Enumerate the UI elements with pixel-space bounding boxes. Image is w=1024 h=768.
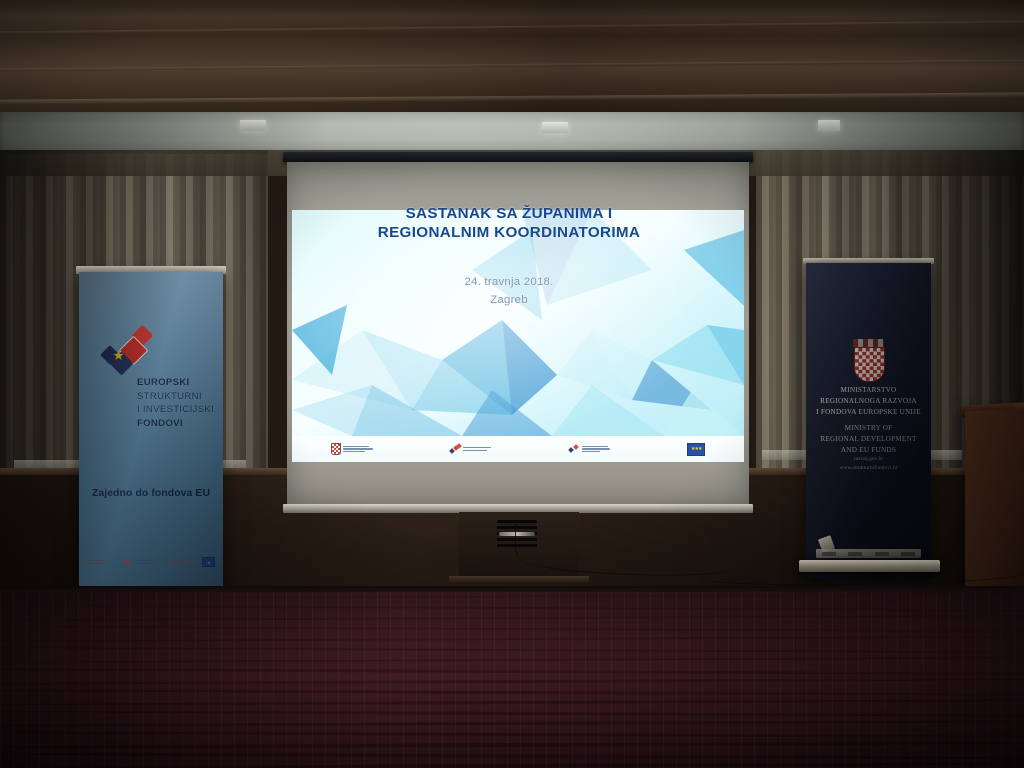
ministry-hr-line-1: MINISTARSTVO: [841, 386, 897, 394]
coat-of-arms-crown: [853, 339, 884, 347]
partner-logo: [901, 552, 915, 556]
carpet-wave: [0, 636, 1024, 643]
right-banner-logo-strip: [816, 549, 921, 558]
left-banner-logo-strip: ★: [87, 556, 215, 568]
slide-logo-strip: ★★★: [292, 436, 744, 462]
logo-text-lines: [582, 446, 610, 451]
right-banner-urls: razvoj.gov.hr www.strukturnifondovi.hr: [806, 455, 931, 473]
url-razvoj: razvoj.gov.hr: [854, 456, 883, 462]
left-banner-tagline: Zajedno do fondova EU: [79, 488, 223, 499]
downlight-icon: [542, 122, 568, 133]
carpet-wave: [0, 625, 1024, 632]
ceiling-molding: [0, 21, 1024, 35]
esi-funds-logo: [450, 444, 491, 455]
right-banner-text: MINISTARSTVO REGIONALNOGA RAZVOJA I FOND…: [806, 385, 931, 456]
carpet-wave: [0, 657, 1024, 664]
partner-logo: [123, 557, 154, 568]
ministry-hr-line-3: I FONDOVA EUROPSKE UNIJE: [816, 408, 921, 416]
carpet-wave: [0, 720, 1024, 728]
carpet-wave: [0, 730, 1024, 738]
slide-title-line-1: SASTANAK SA ŽUPANIMA I: [283, 204, 735, 223]
url-strukturnifondovi: www.strukturnifondovi.hr: [839, 465, 897, 471]
carpet-wave: [0, 615, 1024, 621]
carpet-wave: [0, 709, 1024, 717]
partner-logo: [848, 552, 862, 556]
slide-date: 24. travnja 2018.: [283, 274, 735, 292]
carpet-wave: [0, 604, 1024, 610]
ministry-of-regional-development-logo: [331, 443, 373, 455]
carpet-wave: [0, 688, 1024, 695]
left-banner-heading: EUROPSKI STRUKTURNI I INVESTICIJSKI FOND…: [137, 376, 221, 430]
heading-line-4: FONDOVI: [137, 418, 183, 429]
downlight-icon: [240, 120, 266, 131]
carpet-floor: [0, 592, 1024, 768]
carpet-wave: [0, 667, 1024, 674]
ceiling-molding: [0, 92, 1024, 104]
operational-programme-logo: [569, 444, 610, 455]
heading-line-3: I INVESTICIJSKI: [137, 404, 214, 415]
ministry-hr-line-2: REGIONALNOGA RAZVOJA: [820, 397, 917, 405]
carpet-wave: [0, 646, 1024, 653]
carpet-wave: [0, 699, 1024, 707]
conference-room-photo: SASTANAK SA ŽUPANIMA I REGIONALNIM KOORD…: [0, 0, 1024, 768]
croatian-coat-of-arms-icon: [851, 339, 886, 381]
partner-logo: [822, 552, 836, 556]
slide-title-line-2: REGIONALNIM KOORDINATORIMA: [283, 223, 735, 242]
ministry-en-line-3: AND EU FUNDS: [806, 445, 931, 456]
slide-title: SASTANAK SA ŽUPANIMA I REGIONALNIM KOORD…: [283, 204, 735, 243]
partner-logo: [170, 560, 186, 563]
ceiling: [0, 0, 1024, 118]
coat-of-arms-shield: [854, 347, 885, 382]
heading-line-2: STRUKTURNI: [137, 391, 202, 402]
carpet-wave: [0, 678, 1024, 685]
slide-place: Zagreb: [283, 292, 735, 310]
carpet-wave: [0, 751, 1024, 759]
eu-flag-icon: ★★★: [687, 443, 705, 456]
projected-slide: [292, 210, 744, 436]
carpet-wave: [0, 741, 1024, 749]
european-union-flag-logo: ★★★: [687, 443, 705, 456]
op-squares-icon: [569, 444, 580, 455]
eu-flag-icon: ★: [202, 557, 215, 567]
downlight-icon: [818, 120, 840, 131]
projection-screen: SASTANAK SA ŽUPANIMA I REGIONALNIM KOORD…: [283, 152, 753, 522]
ministry-en-line-2: REGIONAL DEVELOPMENT: [806, 434, 931, 445]
carpet-wave: [0, 594, 1024, 600]
carpet-wave: [0, 762, 1024, 768]
esi-funds-logo-icon: [101, 328, 167, 380]
esif-squares-icon: [450, 444, 461, 455]
ministry-en-line-1: MINISTRY OF: [806, 423, 931, 434]
ceiling-molding: [0, 60, 1024, 72]
ministry-rollup-banner: MINISTARSTVO REGIONALNOGA RAZVOJA I FOND…: [806, 263, 931, 578]
esi-funds-rollup-banner: EUROPSKI STRUKTURNI I INVESTICIJSKI FOND…: [79, 272, 223, 602]
logo-text-lines: [343, 446, 373, 451]
partner-logo: [875, 552, 889, 556]
screen-foot: [449, 576, 589, 583]
croatian-shield-icon: [331, 443, 341, 455]
logo-text-lines: [463, 447, 491, 450]
screen-top-bar: [283, 152, 753, 162]
partner-logo: [87, 560, 107, 563]
heading-line-1: EUROPSKI: [137, 377, 190, 388]
slide-subtitle: 24. travnja 2018. Zagreb: [283, 274, 735, 309]
banner-clip: [818, 535, 835, 553]
